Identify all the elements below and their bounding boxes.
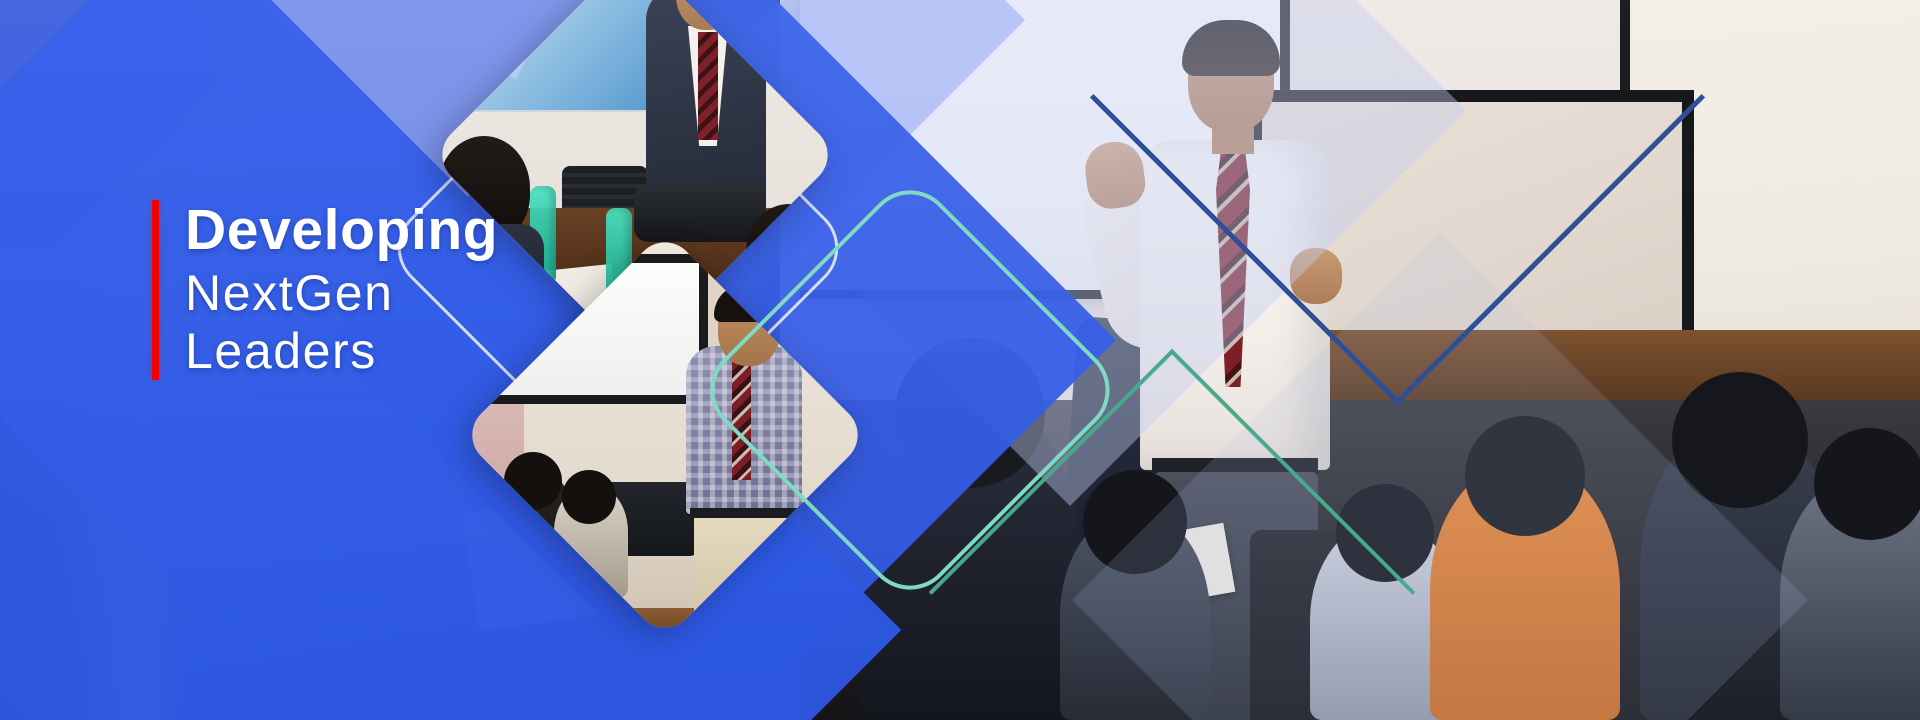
headline-line-1: Developing (185, 200, 498, 260)
laptop-bag (634, 184, 766, 242)
headline-line-2: NextGen (185, 264, 498, 322)
headline-text: Developing NextGen Leaders (185, 200, 498, 380)
headline-block: Developing NextGen Leaders (152, 200, 498, 380)
red-accent-bar (152, 200, 159, 380)
headline-line-3: Leaders (185, 322, 498, 380)
hero-banner: Developing NextGen Leaders (0, 0, 1920, 720)
student-head (562, 470, 616, 524)
suited-trainer-tie (698, 32, 718, 140)
